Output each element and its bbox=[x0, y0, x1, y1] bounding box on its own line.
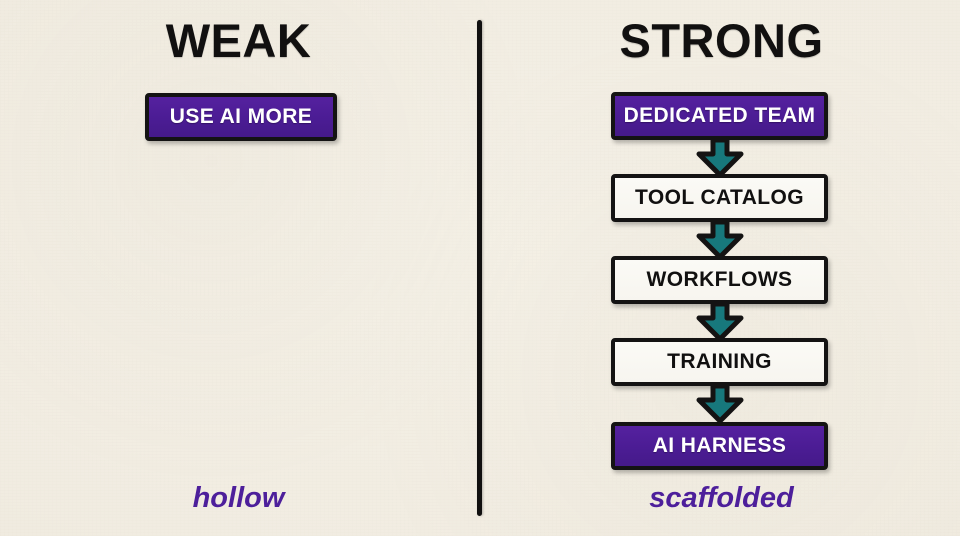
node-dedicated-team[interactable]: DEDICATED TEAM bbox=[611, 92, 828, 140]
node-label: TRAINING bbox=[667, 350, 772, 374]
slide-canvas: WEAK STRONG USE AI MORE hollow DEDICATED… bbox=[0, 0, 960, 536]
arrow-down-icon bbox=[692, 386, 748, 422]
caption-scaffolded: scaffolded bbox=[483, 484, 960, 513]
node-use-ai-more[interactable]: USE AI MORE bbox=[145, 93, 337, 141]
node-tool-catalog[interactable]: TOOL CATALOG bbox=[611, 174, 828, 222]
arrow-down-icon bbox=[692, 222, 748, 258]
column-heading-strong: STRONG bbox=[483, 17, 960, 64]
node-label: TOOL CATALOG bbox=[635, 186, 804, 210]
column-heading-weak: WEAK bbox=[0, 17, 477, 64]
node-label: WORKFLOWS bbox=[647, 268, 793, 292]
vertical-divider bbox=[477, 20, 482, 516]
arrow-down-icon bbox=[692, 140, 748, 176]
node-label: USE AI MORE bbox=[170, 105, 312, 129]
node-training[interactable]: TRAINING bbox=[611, 338, 828, 386]
node-label: AI HARNESS bbox=[653, 434, 787, 458]
node-ai-harness[interactable]: AI HARNESS bbox=[611, 422, 828, 470]
node-label: DEDICATED TEAM bbox=[624, 104, 816, 128]
caption-hollow: hollow bbox=[0, 484, 477, 513]
arrow-down-icon bbox=[692, 304, 748, 340]
node-workflows[interactable]: WORKFLOWS bbox=[611, 256, 828, 304]
